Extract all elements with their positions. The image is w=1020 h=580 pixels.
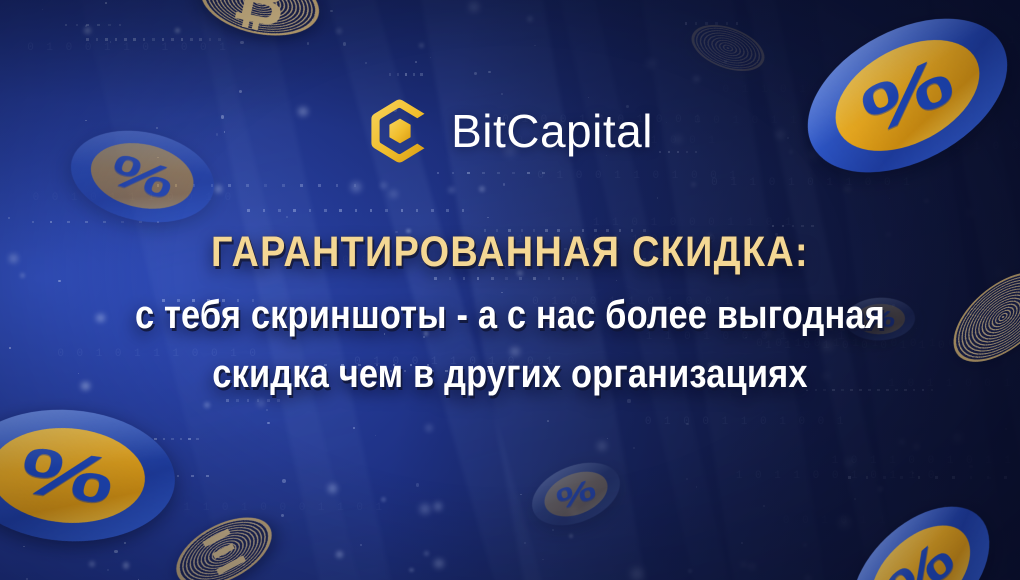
brand-name: BitCapital	[451, 104, 653, 158]
body-line-2: скидка чем в других организациях	[106, 352, 914, 397]
promo-copy: ГАРАНТИРОВАННАЯ СКИДКА: с тебя скриншоты…	[0, 228, 1020, 397]
promo-banner: 0 1 0 0 1 1 0 1 0 0 11 0 1 1 0 0 1 0 1 1…	[0, 0, 1020, 580]
hexagon-ring-logo-icon	[367, 96, 433, 166]
headline-text: ГАРАНТИРОВАННАЯ СКИДКА:	[96, 228, 923, 277]
body-line-1: с тебя скриншоты - а с нас более выгодна…	[106, 293, 914, 338]
brand-logo: BitCapital	[0, 96, 1020, 166]
